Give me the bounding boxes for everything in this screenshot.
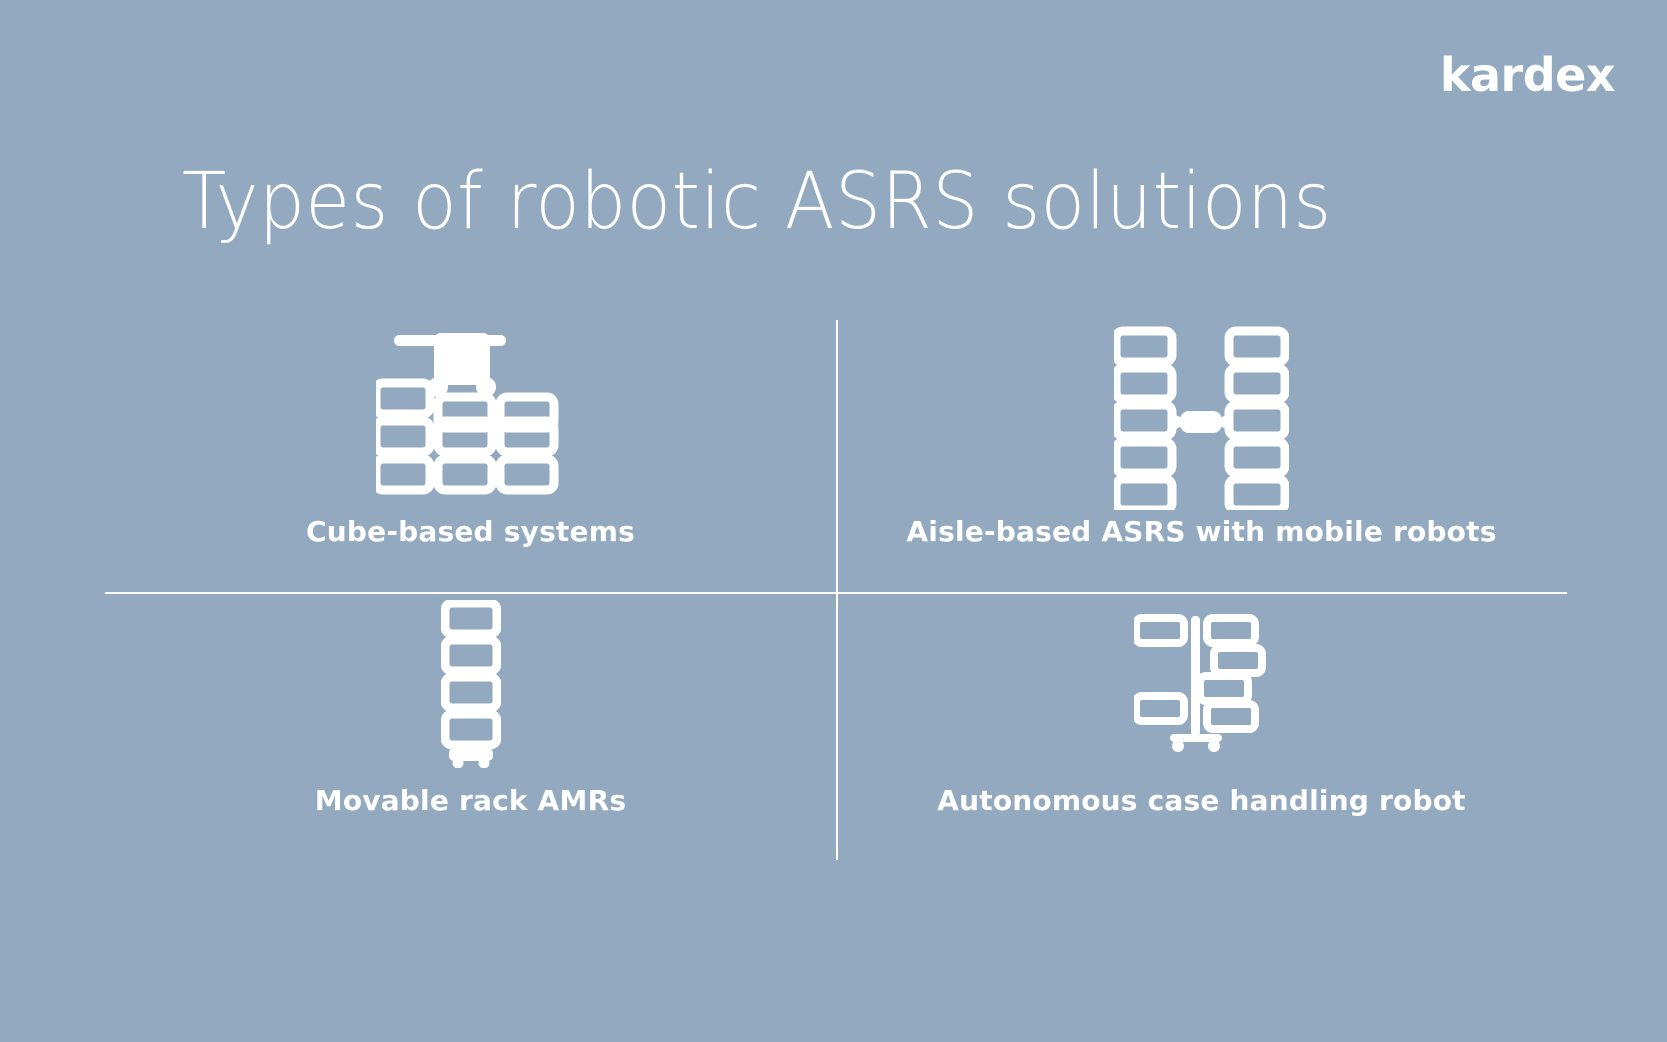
icon-wrap-autonomous-case-handling-robot	[836, 594, 1567, 774]
icon-wrap-movable-rack-amrs	[105, 594, 836, 774]
quadrant-label-cube-based-systems: Cube-based systems	[306, 515, 635, 548]
case-handling-robot-icon	[1134, 614, 1269, 754]
solutions-grid: Cube-based systems	[105, 320, 1567, 860]
icon-wrap-cube-based-systems	[105, 320, 836, 515]
quadrant-aisle-based-asrs[interactable]: Aisle-based ASRS with mobile robots	[836, 320, 1567, 590]
movable-rack-amr-icon	[441, 600, 501, 768]
cube-storage-grid-icon	[376, 325, 566, 510]
quadrant-autonomous-case-handling-robot[interactable]: Autonomous case handling robot	[836, 594, 1567, 864]
quadrant-cube-based-systems[interactable]: Cube-based systems	[105, 320, 836, 590]
quadrant-label-movable-rack-amrs: Movable rack AMRs	[315, 784, 626, 817]
quadrant-label-aisle-based-asrs: Aisle-based ASRS with mobile robots	[906, 515, 1496, 548]
kardex-logo: kardex	[1440, 52, 1615, 98]
page-title: Types of robotic ASRS solutions	[182, 160, 1332, 246]
aisle-rack-shuttle-icon	[1114, 325, 1289, 510]
quadrant-movable-rack-amrs[interactable]: Movable rack AMRs	[105, 594, 836, 864]
icon-wrap-aisle-based-asrs	[836, 320, 1567, 515]
quadrant-label-autonomous-case-handling-robot: Autonomous case handling robot	[937, 784, 1465, 817]
